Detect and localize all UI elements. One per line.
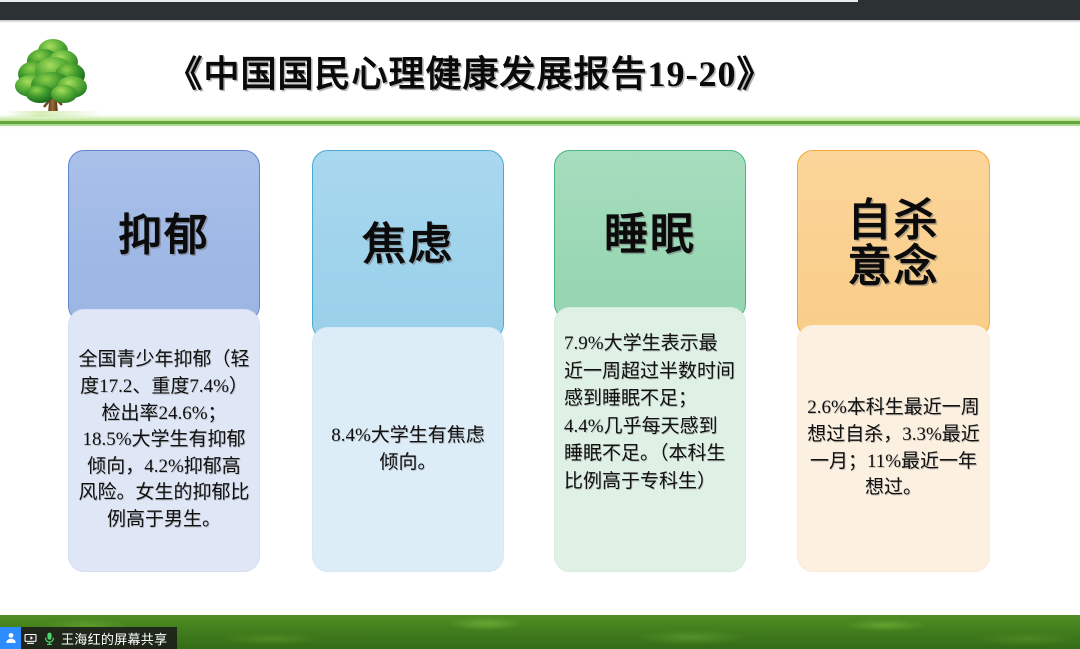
card-header-suicidal-ideation: 自杀 意念 [797, 150, 990, 338]
card-body-suicidal-ideation: 2.6%本科生最近一周想过自杀，3.3%最近一月；11%最近一年想过。 [797, 325, 990, 572]
card-body-depression: 全国青少年抑郁（轻度17.2、重度7.4%）检出率24.6%；18.5%大学生有… [68, 309, 260, 572]
card-body-sleep: 7.9%大学生表示最近一周超过半数时间感到睡眠不足；4.4%几乎每天感到睡眠不足… [554, 307, 746, 572]
card-heading-label: 抑郁 [114, 213, 214, 259]
card-body-anxiety: 8.4%大学生有焦虑倾向。 [312, 327, 504, 572]
page-title: 《中国国民心理健康发展报告19-20》 [120, 45, 820, 97]
card-body-text: 7.9%大学生表示最近一周超过半数时间感到睡眠不足；4.4%几乎每天感到睡眠不足… [564, 330, 736, 495]
card-header-anxiety: 焦虑 [312, 150, 504, 340]
screen-share-icon [21, 627, 40, 649]
card-header-depression: 抑郁 [68, 150, 260, 322]
card-body-text: 全国青少年抑郁（轻度17.2、重度7.4%）检出率24.6%；18.5%大学生有… [78, 347, 250, 533]
card-header-sleep: 睡眠 [554, 150, 746, 320]
card-anxiety: 焦虑 8.4%大学生有焦虑倾向。 [312, 150, 504, 572]
screen-share-window: 《中国国民心理健康发展报告19-20》 抑郁 全国青少年抑郁（轻度17.2、重度… [0, 0, 1080, 649]
tree-icon [6, 31, 102, 127]
card-body-text: 2.6%本科生最近一周想过自杀，3.3%最近一月；11%最近一年想过。 [807, 395, 980, 503]
card-body-text: 8.4%大学生有焦虑倾向。 [322, 423, 494, 477]
presentation-slide: 《中国国民心理健康发展报告19-20》 抑郁 全国青少年抑郁（轻度17.2、重度… [0, 23, 1080, 615]
card-heading-label: 睡眠 [600, 212, 700, 258]
card-suicidal-ideation: 自杀 意念 2.6%本科生最近一周想过自杀，3.3%最近一月；11%最近一年想过… [797, 150, 990, 572]
screen-share-status-bar[interactable]: 王海红的屏幕共享 [0, 627, 177, 649]
green-divider-band [0, 115, 1080, 129]
window-top-bar [0, 0, 1080, 20]
top-bar-highlight-strip [0, 0, 858, 2]
divider-line-soft [0, 124, 1080, 126]
card-sleep: 睡眠 7.9%大学生表示最近一周超过半数时间感到睡眠不足；4.4%几乎每天感到睡… [554, 150, 746, 572]
share-owner-label: 王海红的屏幕共享 [59, 629, 171, 648]
card-heading-label: 焦虑 [358, 222, 458, 268]
person-icon [0, 627, 21, 649]
card-heading-label: 自杀 意念 [844, 198, 944, 290]
microphone-icon [40, 627, 59, 649]
card-depression: 抑郁 全国青少年抑郁（轻度17.2、重度7.4%）检出率24.6%；18.5%大… [68, 150, 260, 572]
card-row: 抑郁 全国青少年抑郁（轻度17.2、重度7.4%）检出率24.6%；18.5%大… [0, 133, 1080, 603]
